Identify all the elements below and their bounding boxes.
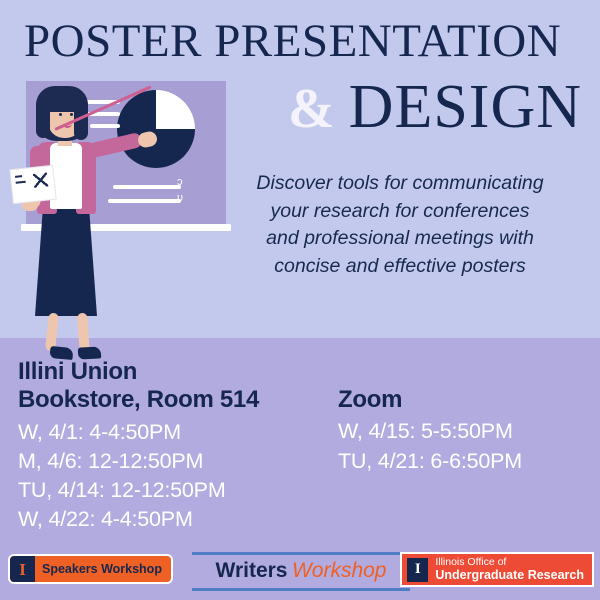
session-item: W, 4/15: 5-5:50PM [338,417,588,446]
logo-undergraduate-research[interactable]: I Illinois Office of Undergraduate Resea… [402,554,592,585]
uor-label-stack: Illinois Office of Undergraduate Researc… [435,556,584,583]
session-item: W, 4/22: 4-4:50PM [18,505,338,534]
venue-heading-line1: Illini Union [18,358,338,386]
description-line-1: Discover tools for communicating [214,170,586,198]
venue-heading-line2: Bookstore, Room 514 [18,386,338,414]
board-text-line [90,124,120,128]
presenter-eyebrow-left [57,108,64,110]
event-block-zoom: Zoom W, 4/15: 5-5:50PM TU, 4/21: 6-6:50P… [338,386,588,476]
illinois-block-i-icon: I [10,556,35,582]
page-title-design: DESIGN [349,76,582,138]
workshop-word: Workshop [292,559,387,582]
zoom-heading: Zoom [338,386,588,414]
book-line [16,181,26,184]
presenter-eye-right [70,113,73,116]
session-item: W, 4/1: 4-4:50PM [18,418,338,447]
session-item: M, 4/6: 12-12:50PM [18,447,338,476]
block-i-glyph: I [415,562,421,577]
poster-canvas: POSTER PRESENTATION & DESIGN Discover to… [0,0,600,600]
book-mark [33,172,48,187]
board-glyph-2: ᴜ [177,192,183,204]
description-text: Discover tools for communicating your re… [214,170,586,281]
session-item: TU, 4/21: 6-6:50PM [338,447,588,476]
description-line-4: concise and effective posters [214,253,586,281]
session-list-zoom: W, 4/15: 5-5:50PM TU, 4/21: 6-6:50PM [338,417,588,475]
page-title-line1: POSTER PRESENTATION [24,18,584,65]
presenter-hair-side-left [36,98,50,138]
board-glyph-1: ɔ [177,176,183,188]
presenter-skirt [35,206,97,316]
description-line-2: your research for conferences [214,198,586,226]
logo-speakers-workshop[interactable]: I Speakers Workshop [10,556,171,582]
uor-label-line2: Undergraduate Research [435,568,584,583]
book-line [15,175,22,178]
presenter-leg-right [77,313,90,352]
presenter-illustration: ɔ ᴜ [0,70,230,360]
board-text-line [108,199,181,203]
description-line-3: and professional meetings with [214,225,586,253]
presenter-shirt [50,143,82,209]
presenter-eyebrow-right [68,108,75,110]
uor-label-line1: Illinois Office of [435,556,584,568]
footer-logo-bar: I Speakers Workshop Writers Workshop I I… [0,548,600,600]
venue-heading: Illini Union Bookstore, Room 514 [18,358,338,415]
pie-chart-graphic [117,90,195,168]
board-text-line [113,185,181,189]
page-title-line2: & DESIGN [288,76,582,138]
session-item: TU, 4/14: 12-12:50PM [18,476,338,505]
logo-writers-workshop[interactable]: Writers Workshop [192,552,410,591]
presenter-eye-left [59,113,62,116]
event-block-in-person: Illini Union Bookstore, Room 514 W, 4/1:… [18,358,338,535]
ampersand-glyph: & [288,81,335,137]
session-list-in-person: W, 4/1: 4-4:50PM M, 4/6: 12-12:50PM TU, … [18,418,338,535]
open-book-icon [10,166,55,203]
zoom-heading-line1: Zoom [338,386,588,414]
block-i-glyph: I [19,561,26,578]
illinois-block-i-icon: I [407,558,428,582]
writers-word: Writers [216,559,288,582]
speakers-workshop-label: Speakers Workshop [35,562,171,576]
